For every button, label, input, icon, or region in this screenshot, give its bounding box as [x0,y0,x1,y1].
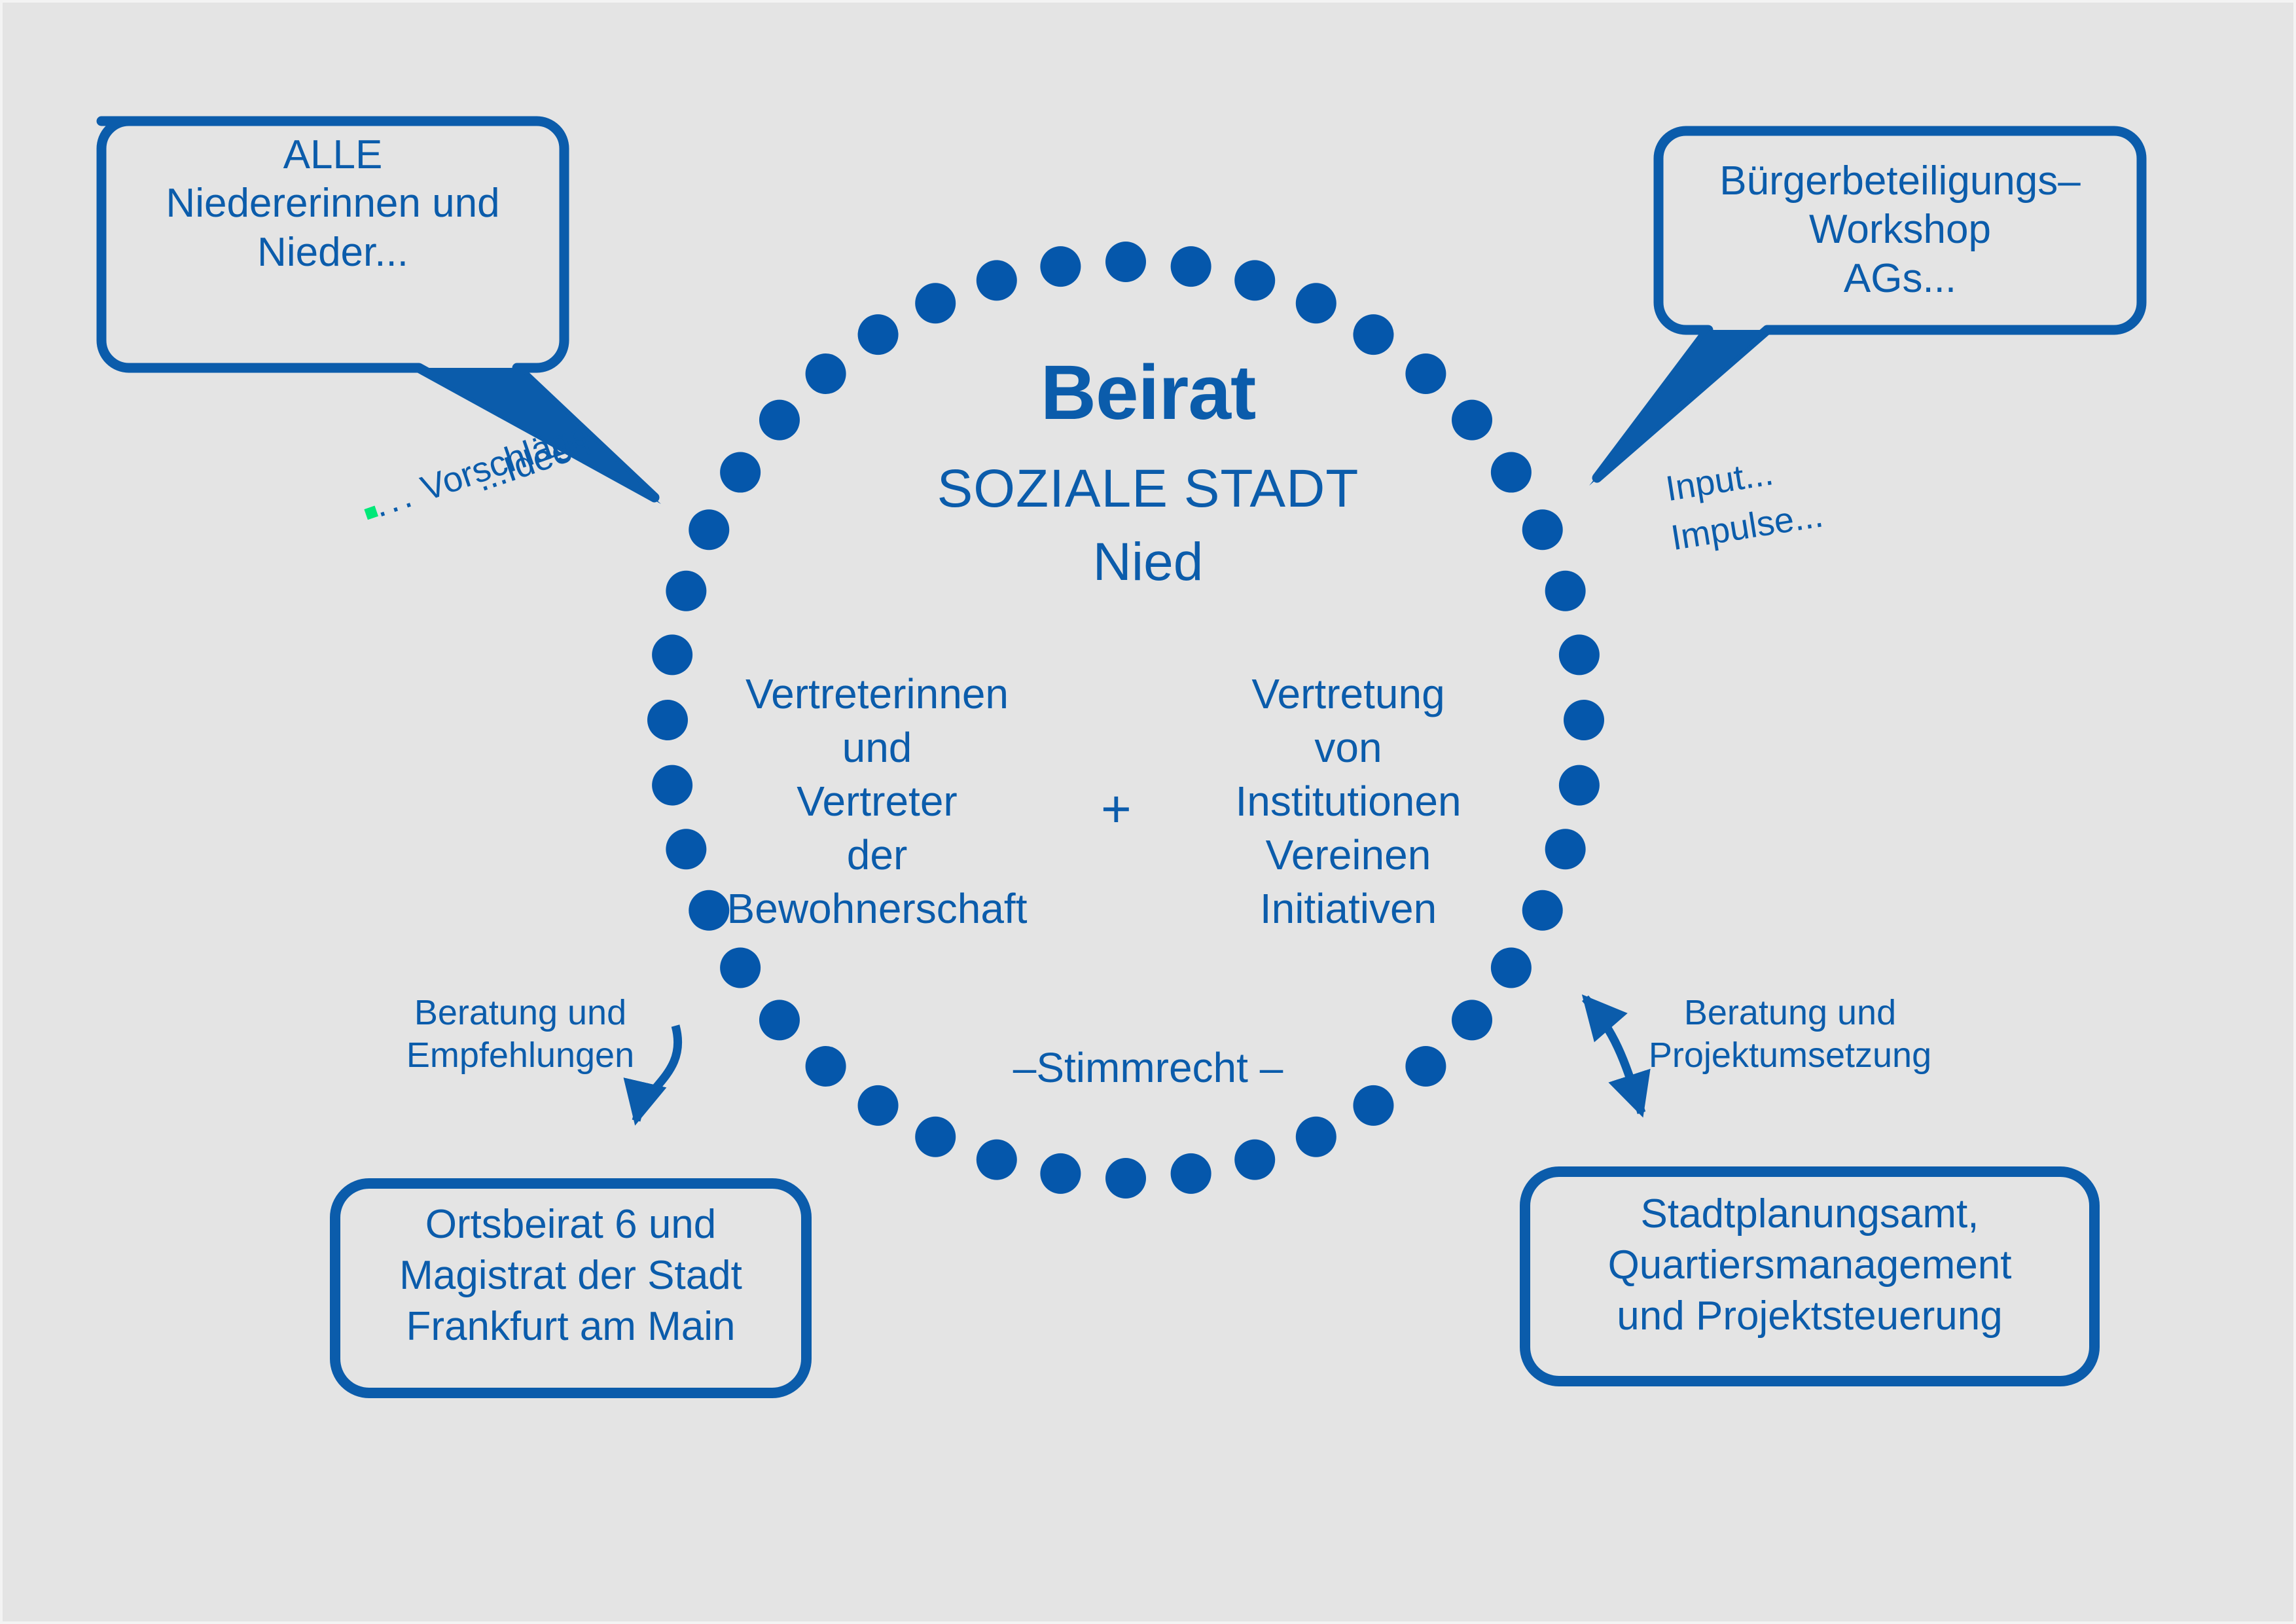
circle-dot [1234,1140,1275,1180]
circle-dot [1040,246,1081,287]
circle-dot [1040,1153,1081,1194]
circle-dot [759,1000,800,1040]
circle-dot [1234,260,1275,300]
circle-dot [652,634,692,675]
bubble-top-left-line1: ALLE [101,131,564,179]
bubble-top-right-line1: Bürgerbeteiligungs– [1659,157,2142,206]
circle-dot [1171,246,1211,287]
diagram-canvas: ALLE Niedererinnen und Nieder... Bürgerb… [0,0,2296,1624]
plus-sign: + [1101,779,1132,839]
circle-dot [1105,1158,1146,1199]
circle-dot [1296,283,1336,323]
circle-dot [1559,634,1600,675]
box-bottom-left-text: Ortsbeirat 6 und Magistrat der Stadt Fra… [335,1199,806,1352]
circle-dot [652,765,692,806]
circle-dot [1559,765,1600,806]
circle-dot [977,1140,1017,1180]
annotation-bottom-left: Beratung und Empfehlungen [367,992,674,1077]
circle-dot [915,283,956,323]
stimmrecht-note: –Stimmrecht – [0,1043,2296,1092]
page-title: Beirat [0,348,2296,437]
circle-dot [720,947,761,988]
box-bottom-right-text: Stadtplanungsamt, Quartiersmanagement un… [1525,1189,2094,1342]
circle-dot [1296,1117,1336,1157]
bubble-top-left-line3: Nieder... [101,228,564,277]
circle-dot [647,700,688,740]
circle-dot [1452,1000,1492,1040]
circle-dot [1522,890,1563,931]
circle-dot [915,1117,956,1157]
circle-dot [1564,700,1604,740]
bubble-top-left-text: ALLE Niedererinnen und Nieder... [101,131,564,277]
annotation-bottom-right: Beratung und Projektumsetzung [1636,992,1944,1077]
bubble-top-left-line2: Niedererinnen und [101,179,564,228]
center-subtitle-line1: SOZIALE STADT [0,458,2296,520]
bubble-top-right-line2: Workshop [1659,206,2142,254]
circle-dot [1545,829,1586,869]
center-subtitle-line2: Nied [0,532,2296,593]
members-left-column: Vertreterinnen und Vertreter der Bewohne… [694,668,1060,936]
bubble-top-right-line3: AGs... [1659,255,2142,303]
bubble-top-right-text: Bürgerbeteiligungs– Workshop AGs... [1659,157,2142,303]
circle-dot [1491,947,1532,988]
circle-dot [1105,242,1146,282]
annotation-left-dots: ... [368,475,420,525]
members-right-column: Vertretung von Institutionen Vereinen In… [1185,668,1512,936]
circle-dot [1171,1153,1211,1194]
circle-dot [977,260,1017,300]
